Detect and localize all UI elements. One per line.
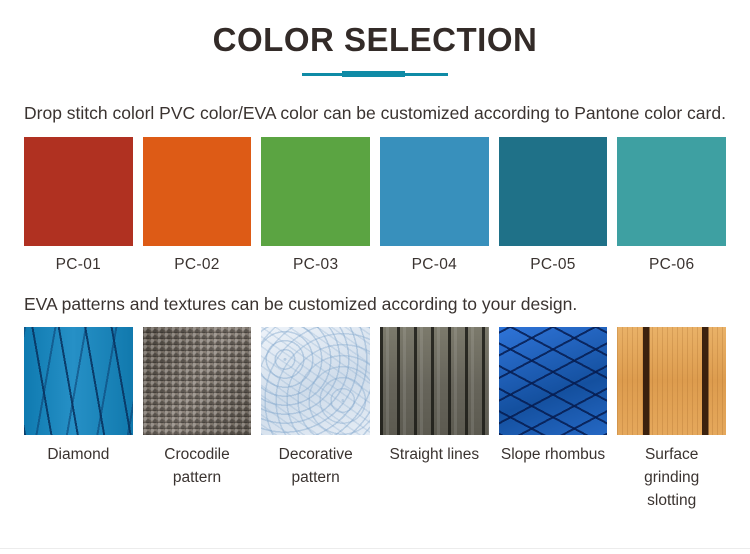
color-swatch-item[interactable]: PC-06 — [617, 137, 726, 274]
color-chip-pc-01[interactable] — [24, 137, 133, 246]
color-chip-pc-06[interactable] — [617, 137, 726, 246]
texture-swatch-item[interactable]: Diamond — [24, 327, 133, 513]
color-swatch-row: PC-01 PC-02 PC-03 PC-04 PC-05 PC-06 — [0, 126, 750, 274]
texture-swatch-item[interactable]: Slope rhombus — [499, 327, 608, 513]
color-chip-pc-05[interactable] — [499, 137, 608, 246]
texture-surface-grinding[interactable] — [617, 327, 726, 435]
color-label: PC-05 — [530, 256, 575, 274]
title-underline-center — [342, 71, 405, 77]
texture-swatch-item[interactable]: Straight lines — [380, 327, 489, 513]
texture-label: Decorative pattern — [263, 444, 368, 490]
texture-label: Slope rhombus — [501, 444, 605, 467]
color-selection-page: COLOR SELECTION Drop stitch colorl PVC c… — [0, 0, 750, 554]
texture-label: Crocodile pattern — [145, 444, 250, 490]
color-chip-pc-03[interactable] — [261, 137, 370, 246]
texture-decorative[interactable] — [261, 327, 370, 435]
bottom-divider — [0, 548, 750, 549]
page-title: COLOR SELECTION — [0, 22, 750, 58]
texture-straight-lines[interactable] — [380, 327, 489, 435]
color-swatch-item[interactable]: PC-05 — [499, 137, 608, 274]
texture-label: Straight lines — [390, 444, 480, 467]
color-label: PC-03 — [293, 256, 338, 274]
page-header: COLOR SELECTION — [0, 0, 750, 79]
color-swatch-item[interactable]: PC-01 — [24, 137, 133, 274]
color-chip-pc-02[interactable] — [143, 137, 252, 246]
color-label: PC-01 — [56, 256, 101, 274]
colors-intro-text: Drop stitch colorl PVC color/EVA color c… — [0, 79, 750, 126]
texture-swatch-item[interactable]: Crocodile pattern — [143, 327, 252, 513]
texture-crocodile[interactable] — [143, 327, 252, 435]
texture-swatch-item[interactable]: Surface grinding slotting — [617, 327, 726, 513]
texture-swatch-item[interactable]: Decorative pattern — [261, 327, 370, 513]
texture-slope-rhombus[interactable] — [499, 327, 608, 435]
color-label: PC-06 — [649, 256, 694, 274]
color-chip-pc-04[interactable] — [380, 137, 489, 246]
textures-intro-text: EVA patterns and textures can be customi… — [0, 274, 750, 317]
texture-swatch-row: Diamond Crocodile pattern Decorative pat… — [0, 317, 750, 513]
color-swatch-item[interactable]: PC-04 — [380, 137, 489, 274]
texture-label: Diamond — [47, 444, 109, 467]
title-underline — [302, 70, 448, 79]
texture-diamond[interactable] — [24, 327, 133, 435]
color-label: PC-02 — [174, 256, 219, 274]
color-label: PC-04 — [412, 256, 457, 274]
color-swatch-item[interactable]: PC-02 — [143, 137, 252, 274]
color-swatch-item[interactable]: PC-03 — [261, 137, 370, 274]
texture-label: Surface grinding slotting — [619, 444, 724, 513]
